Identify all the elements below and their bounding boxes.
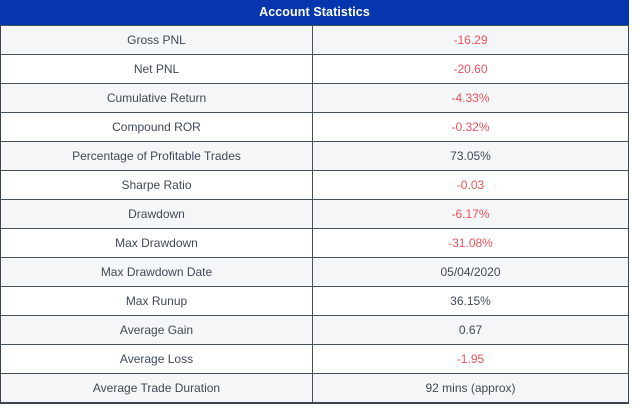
stat-value: 0.67 <box>313 316 629 345</box>
stat-label: Drawdown <box>1 200 313 229</box>
stat-label: Average Gain <box>1 316 313 345</box>
table-row: Percentage of Profitable Trades73.05% <box>1 142 629 171</box>
stat-value: 36.15% <box>313 287 629 316</box>
panel-title: Account Statistics <box>0 0 629 25</box>
table-body: Gross PNL-16.29Net PNL-20.60Cumulative R… <box>1 26 629 403</box>
account-statistics-table: Gross PNL-16.29Net PNL-20.60Cumulative R… <box>0 25 629 404</box>
stat-label: Gross PNL <box>1 26 313 55</box>
table-row: Sharpe Ratio-0.03 <box>1 171 629 200</box>
stat-value: 92 mins (approx) <box>313 374 629 403</box>
stat-value: -1.95 <box>313 345 629 374</box>
stat-label: Cumulative Return <box>1 84 313 113</box>
stat-label: Max Drawdown Date <box>1 258 313 287</box>
stat-label: Average Loss <box>1 345 313 374</box>
stat-value: -4.33% <box>313 84 629 113</box>
table-row: Gross PNL-16.29 <box>1 26 629 55</box>
table-row: Average Gain0.67 <box>1 316 629 345</box>
stat-value: 05/04/2020 <box>313 258 629 287</box>
stat-value: -6.17% <box>313 200 629 229</box>
table-row: Max Drawdown Date05/04/2020 <box>1 258 629 287</box>
stat-value: -16.29 <box>313 26 629 55</box>
stat-label: Compound ROR <box>1 113 313 142</box>
stat-label: Sharpe Ratio <box>1 171 313 200</box>
stat-value: -31.08% <box>313 229 629 258</box>
stat-label: Net PNL <box>1 55 313 84</box>
table-row: Max Runup36.15% <box>1 287 629 316</box>
table-row: Average Loss-1.95 <box>1 345 629 374</box>
account-statistics-panel: Account Statistics Gross PNL-16.29Net PN… <box>0 0 629 404</box>
table-row: Average Trade Duration92 mins (approx) <box>1 374 629 403</box>
stat-value: -0.32% <box>313 113 629 142</box>
table-row: Compound ROR-0.32% <box>1 113 629 142</box>
stat-label: Max Runup <box>1 287 313 316</box>
stat-label: Percentage of Profitable Trades <box>1 142 313 171</box>
table-row: Net PNL-20.60 <box>1 55 629 84</box>
table-row: Max Drawdown-31.08% <box>1 229 629 258</box>
table-row: Drawdown-6.17% <box>1 200 629 229</box>
stat-label: Average Trade Duration <box>1 374 313 403</box>
stat-label: Max Drawdown <box>1 229 313 258</box>
stat-value: -0.03 <box>313 171 629 200</box>
table-row: Cumulative Return-4.33% <box>1 84 629 113</box>
stat-value: -20.60 <box>313 55 629 84</box>
stat-value: 73.05% <box>313 142 629 171</box>
